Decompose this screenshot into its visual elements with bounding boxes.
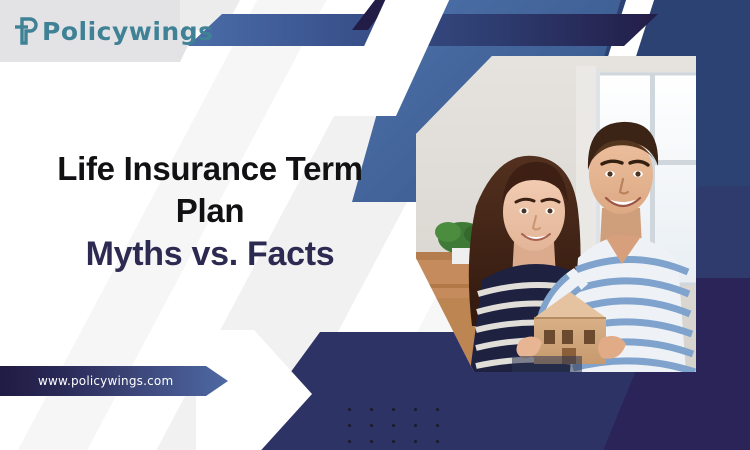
dot <box>392 408 395 411</box>
dot <box>436 440 439 443</box>
dot <box>370 408 373 411</box>
dot <box>348 424 351 427</box>
decor-dot-grid <box>348 408 458 450</box>
dot <box>414 424 417 427</box>
dot <box>414 440 417 443</box>
dot <box>392 424 395 427</box>
brand-logo[interactable]: Policywings <box>14 16 214 46</box>
title-line-1: Life Insurance Term Plan <box>30 148 390 232</box>
dot <box>392 440 395 443</box>
hero-photo <box>416 56 696 372</box>
website-url-banner[interactable]: www.policywings.com <box>0 366 228 396</box>
dot <box>436 424 439 427</box>
website-url-text: www.policywings.com <box>38 374 173 388</box>
brand-logo-text: Policywings <box>42 19 214 44</box>
poster-canvas: Policywings Life Insurance Term Plan Myt… <box>0 0 750 450</box>
dot <box>348 408 351 411</box>
dot <box>348 440 351 443</box>
dot <box>370 424 373 427</box>
dot <box>414 408 417 411</box>
page-title: Life Insurance Term Plan Myths vs. Facts <box>30 148 390 276</box>
policywings-p-mark-icon <box>14 16 40 46</box>
dot <box>436 408 439 411</box>
dot <box>370 440 373 443</box>
title-line-2: Myths vs. Facts <box>30 234 390 275</box>
